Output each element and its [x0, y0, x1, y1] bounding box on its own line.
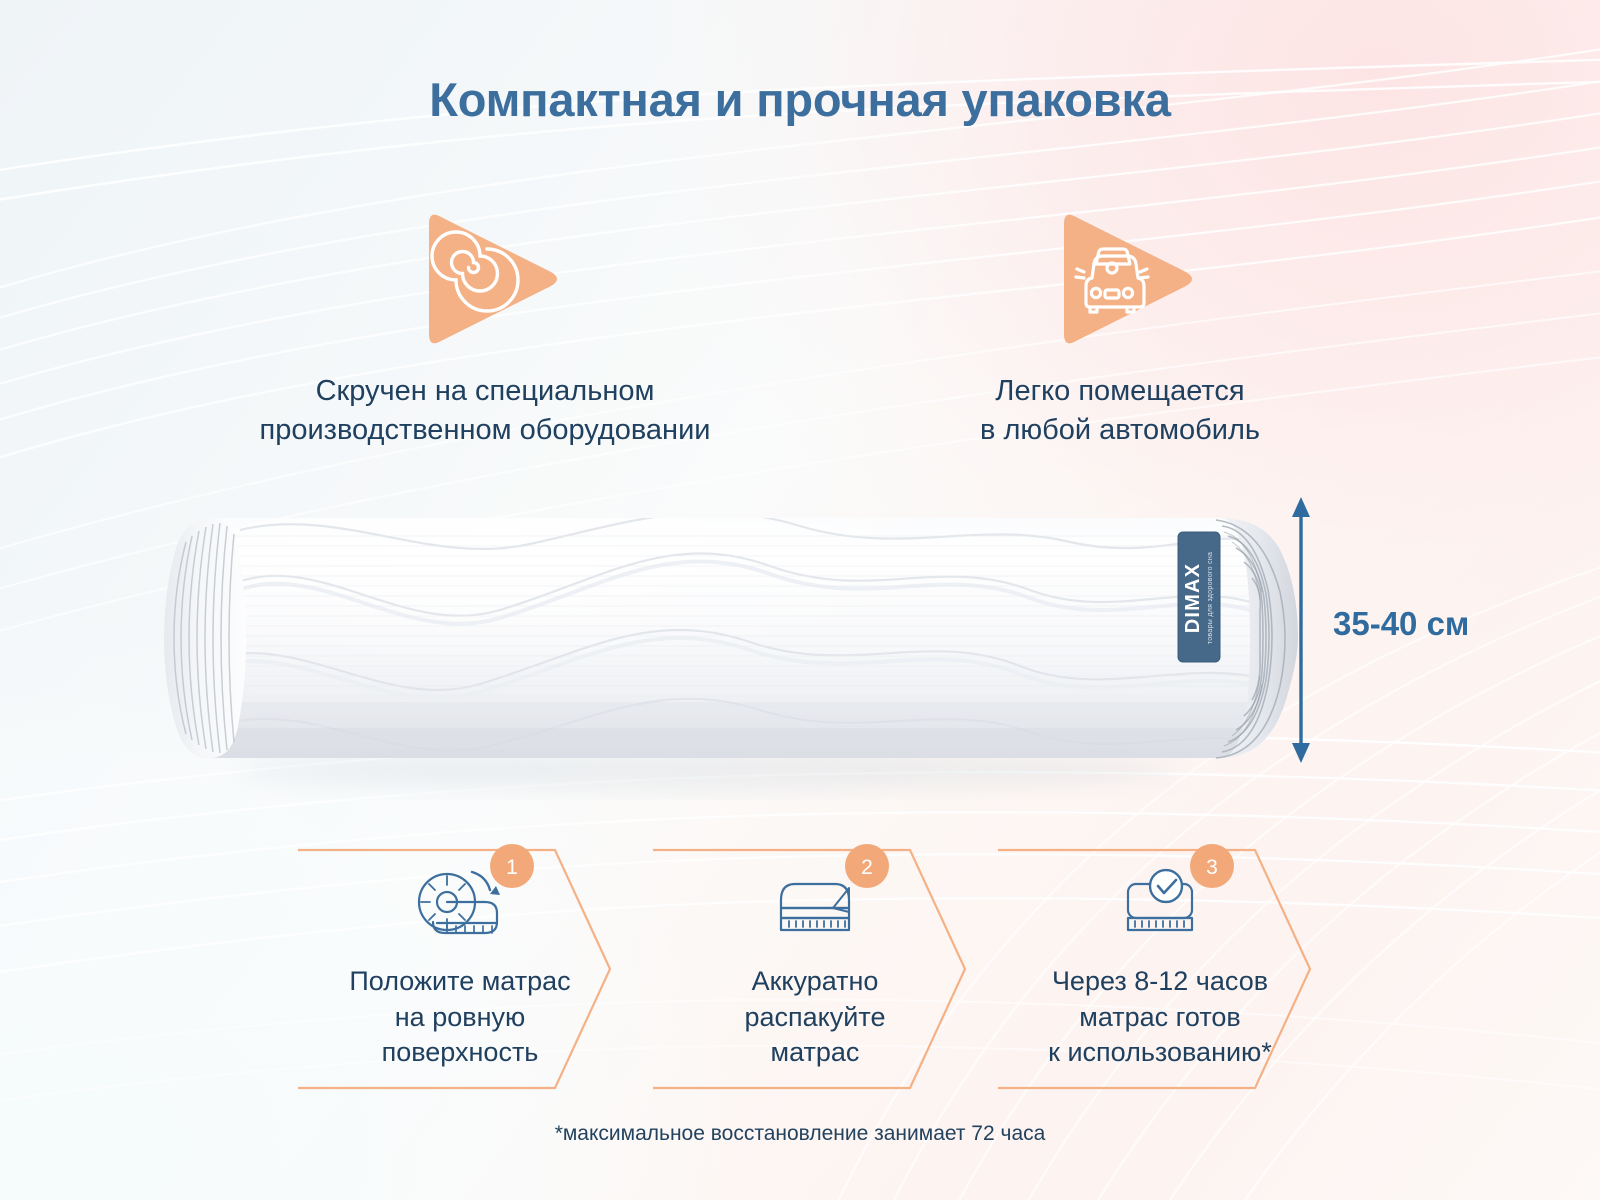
mattress-roll-image: DIMAX товары для здорового сна — [150, 470, 1330, 800]
step-1-text: Положите матрас на ровную поверхность — [290, 964, 630, 1071]
unwrap-mattress-icon — [645, 864, 985, 950]
spiral-roll-icon — [405, 202, 565, 354]
mattress-check-icon — [990, 864, 1330, 950]
feature-block-car: Легко помещается в любой автомобиль — [840, 198, 1400, 451]
footnote-text: *максимальное восстановление занимает 72… — [0, 1122, 1600, 1146]
svg-text:DIMAX: DIMAX — [1182, 563, 1204, 633]
step-3-text: Через 8-12 часов матрас готов к использо… — [990, 964, 1330, 1071]
step-2: 2 Аккуратно рас — [645, 838, 985, 1100]
step-3-content: Через 8-12 часов матрас готов к использо… — [990, 838, 1330, 1071]
rolled-mattress-icon — [290, 864, 630, 950]
dimension-indicator: 35-40 см — [1285, 495, 1585, 765]
feature-block-rolled: Скручен на специальном производственном … — [165, 198, 805, 451]
feature-caption-1: Скручен на специальном производственном … — [165, 372, 805, 451]
feature-icon-wrap-2 — [840, 198, 1400, 358]
brand-tag: DIMAX товары для здорового сна — [1178, 532, 1220, 662]
page-title: Компактная и прочная упаковка — [0, 72, 1600, 127]
car-front-icon — [1040, 202, 1200, 354]
step-2-text: Аккуратно распакуйте матрас — [645, 964, 985, 1071]
dimension-label: 35-40 см — [1333, 605, 1469, 643]
step-1: 1 — [290, 838, 630, 1100]
svg-text:товары для здорового сна: товары для здорового сна — [1207, 552, 1214, 644]
step-2-content: Аккуратно распакуйте матрас — [645, 838, 985, 1071]
step-3: 3 — [990, 838, 1330, 1100]
feature-caption-2: Легко помещается в любой автомобиль — [840, 372, 1400, 451]
infographic-page: Компактная и прочная упаковка Скручен на… — [0, 0, 1600, 1200]
feature-icon-wrap-1 — [165, 198, 805, 358]
step-1-content: Положите матрас на ровную поверхность — [290, 838, 630, 1071]
steps-row: 1 — [290, 838, 1310, 1100]
